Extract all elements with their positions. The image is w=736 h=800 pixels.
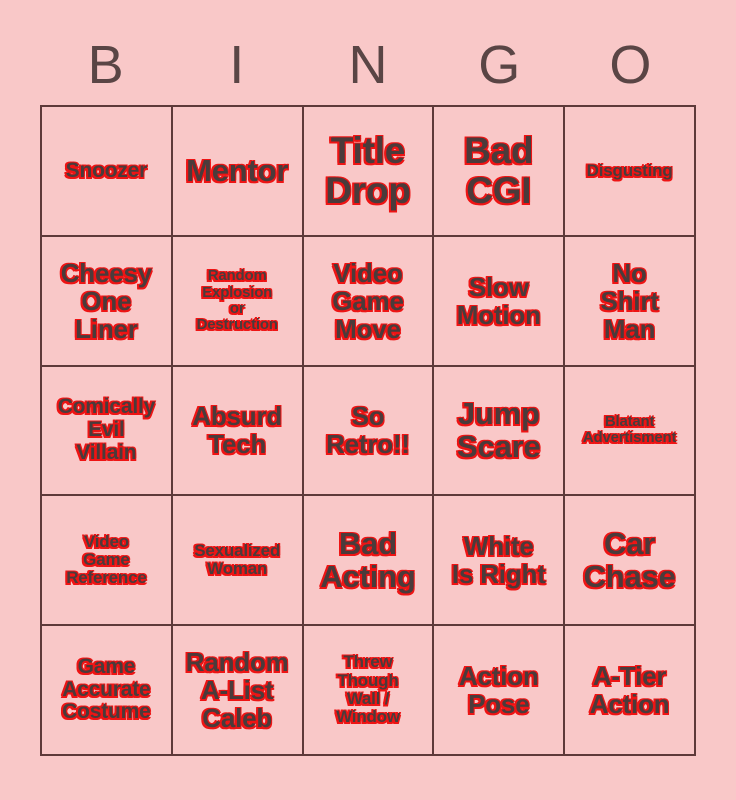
bingo-cell-label: Mentor [176,154,299,187]
bingo-cell-r3c1[interactable]: Comically Evil Villain [42,367,171,495]
bingo-cell-label: Cheesy One Liner [45,259,168,343]
bingo-cell-r2c4[interactable]: Slow Motion [434,237,563,365]
bingo-letter-g: G [434,38,565,92]
bingo-cell-r3c5[interactable]: Blatant Advertisment [565,367,694,495]
bingo-cell-label: Title Drop [307,131,430,211]
bingo-cell-r2c5[interactable]: No Shirt Man [565,237,694,365]
bingo-cell-r4c3[interactable]: Bad Acting [304,496,433,624]
bingo-cell-label: White Is Right [437,532,560,588]
bingo-letter-n: N [302,38,433,92]
bingo-card: B I N G O SnoozerMentorTitle DropBad CGI… [0,0,736,800]
bingo-cell-label: Video Game Reference [45,533,168,588]
bingo-cell-r1c2[interactable]: Mentor [173,107,302,235]
bingo-grid: SnoozerMentorTitle DropBad CGIDisgusting… [40,105,696,756]
bingo-cell-label: Absurd Tech [176,402,299,458]
bingo-cell-r3c2[interactable]: Absurd Tech [173,367,302,495]
bingo-cell-label: Threw Though Wall / Window [307,653,430,726]
bingo-cell-label: Video Game Move [307,259,430,343]
bingo-cell-label: Jump Scare [437,397,560,464]
bingo-cell-r4c2[interactable]: Sexualized Woman [173,496,302,624]
bingo-cell-r1c5[interactable]: Disgusting [565,107,694,235]
bingo-letter-o: O [565,38,696,92]
bingo-cell-r5c1[interactable]: Game Accurate Costume [42,626,171,754]
bingo-cell-label: Sexualized Woman [176,542,299,579]
bingo-cell-r2c1[interactable]: Cheesy One Liner [42,237,171,365]
bingo-cell-r5c4[interactable]: Action Pose [434,626,563,754]
bingo-cell-r1c3[interactable]: Title Drop [304,107,433,235]
bingo-cell-label: No Shirt Man [568,259,691,343]
bingo-cell-label: Action Pose [437,662,560,718]
bingo-cell-label: Car Chase [568,527,691,594]
bingo-cell-label: Bad CGI [437,131,560,211]
bingo-cell-r3c3[interactable]: So Retro!! [304,367,433,495]
bingo-cell-label: Disgusting [568,162,691,180]
bingo-cell-label: Snoozer [45,160,168,183]
bingo-cell-label: Game Accurate Costume [45,656,168,724]
bingo-header: B I N G O [40,34,696,96]
bingo-cell-r5c2[interactable]: Random A-List Caleb [173,626,302,754]
bingo-cell-label: Slow Motion [437,273,560,329]
bingo-letter-b: B [40,38,171,92]
bingo-cell-r1c1[interactable]: Snoozer [42,107,171,235]
bingo-cell-label: Comically Evil Villain [45,396,168,464]
bingo-cell-r5c3[interactable]: Threw Though Wall / Window [304,626,433,754]
bingo-cell-label: A-Tier Action [568,662,691,718]
bingo-cell-r3c4[interactable]: Jump Scare [434,367,563,495]
bingo-cell-r4c1[interactable]: Video Game Reference [42,496,171,624]
bingo-cell-label: So Retro!! [307,402,430,458]
bingo-letter-i: I [171,38,302,92]
bingo-cell-r2c3[interactable]: Video Game Move [304,237,433,365]
bingo-cell-r1c4[interactable]: Bad CGI [434,107,563,235]
bingo-cell-label: Bad Acting [307,527,430,594]
bingo-cell-r2c2[interactable]: Random Explosion or Destruction [173,237,302,365]
bingo-cell-r4c5[interactable]: Car Chase [565,496,694,624]
bingo-cell-label: Random A-List Caleb [176,648,299,732]
bingo-cell-label: Blatant Advertisment [568,414,691,446]
bingo-cell-label: Random Explosion or Destruction [176,268,299,333]
bingo-cell-r5c5[interactable]: A-Tier Action [565,626,694,754]
bingo-cell-r4c4[interactable]: White Is Right [434,496,563,624]
